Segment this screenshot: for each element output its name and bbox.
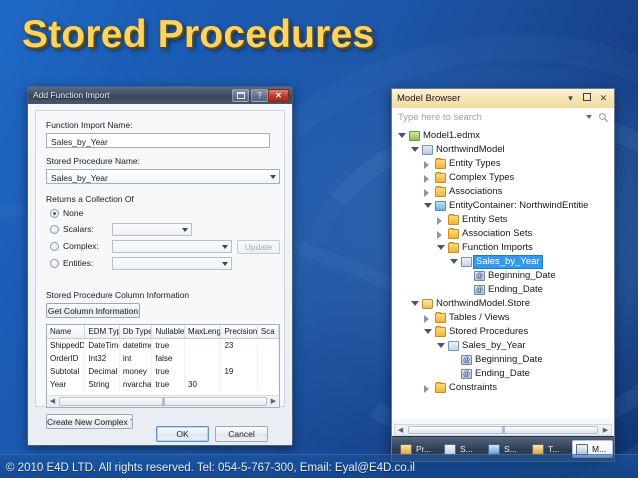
- update-button[interactable]: Update: [237, 240, 280, 254]
- dialog-content-frame: Function Import Name: Sales_by_Year Stor…: [35, 110, 285, 407]
- col-header-nullable[interactable]: Nullable: [152, 325, 185, 339]
- cell-precision: 19: [221, 365, 257, 378]
- dialog-body: Function Import Name: Sales_by_Year Stor…: [28, 104, 292, 445]
- expand-triangle-icon[interactable]: [424, 175, 429, 183]
- tree-item-label: Ending_Date: [488, 283, 543, 297]
- tree-item-label: Stored Procedures: [449, 325, 528, 339]
- dialog-title: Add Function Import: [33, 90, 110, 100]
- radio-scalars-label: Scalars:: [63, 224, 94, 234]
- table-header-row: Name EDM Type Db Type Nullable MaxLength…: [47, 325, 279, 339]
- tree-item-label: Association Sets: [462, 227, 532, 241]
- tree-item-tables-views[interactable]: Tables / Views: [392, 311, 614, 325]
- collapse-triangle-icon[interactable]: [424, 329, 432, 334]
- cell-scale: [257, 378, 278, 391]
- tree-item-entity-types[interactable]: Entity Types: [392, 157, 614, 171]
- help-icon[interactable]: ?: [251, 89, 268, 102]
- expand-triangle-icon[interactable]: [424, 189, 429, 197]
- cell-edm-type: DateTime: [85, 339, 119, 353]
- cell-nullable: true: [152, 365, 185, 378]
- complex-select[interactable]: [112, 240, 232, 253]
- model-browser-search-bar[interactable]: Type here to search: [392, 108, 614, 128]
- store-icon: [422, 299, 433, 309]
- collapse-triangle-icon[interactable]: [398, 133, 406, 138]
- returns-collection-label: Returns a Collection Of: [46, 194, 134, 204]
- tree-item-label: Sales_by_Year: [473, 255, 543, 269]
- restore-icon[interactable]: [232, 89, 249, 102]
- tool-tab-label: Pr...: [416, 444, 431, 454]
- chevron-down-icon[interactable]: ▾: [565, 93, 576, 103]
- tree-item-northwindmodel[interactable]: NorthwindModel: [392, 143, 614, 157]
- collapse-triangle-icon[interactable]: [411, 147, 419, 152]
- scroll-right-icon[interactable]: ▶: [600, 425, 611, 435]
- folder-icon: [435, 159, 446, 169]
- cell-edm-type: String: [85, 378, 119, 391]
- cell-edm-type: Decimal: [85, 365, 119, 378]
- grid-horizontal-scrollbar[interactable]: ◀ ||| ▶: [47, 395, 279, 407]
- cell-nullable: true: [152, 378, 185, 391]
- cell-precision: [221, 352, 257, 365]
- tree-item-label: Associations: [449, 185, 502, 199]
- stored-procedure-name-select[interactable]: Sales_by_Year: [46, 169, 280, 184]
- function-icon: [448, 341, 459, 351]
- slide: Stored Procedures Add Function Import ? …: [0, 0, 638, 478]
- table-row[interactable]: Subtotal Decimal money true 19: [47, 365, 279, 378]
- tree-item-label: Ending_Date: [475, 367, 530, 381]
- model-icon: [422, 145, 433, 155]
- cell-db-type: nvarchar: [119, 378, 152, 391]
- tree-item-label: Entity Types: [449, 157, 501, 171]
- search-icon[interactable]: [598, 112, 609, 123]
- collapse-triangle-icon[interactable]: [411, 301, 419, 306]
- radio-complex-label: Complex:: [63, 241, 99, 251]
- cell-precision: [221, 378, 257, 391]
- cell-edm-type: Int32: [85, 352, 119, 365]
- tree-item-ending-date[interactable]: @Ending_Date: [392, 283, 614, 297]
- chevron-down-icon: [222, 262, 228, 266]
- folder-icon: [435, 173, 446, 183]
- expand-triangle-icon[interactable]: [437, 217, 442, 225]
- scrollbar-grip-icon: |||: [502, 427, 504, 434]
- cell-maxlength: [185, 352, 221, 365]
- entity-container-icon: [435, 201, 446, 211]
- cell-db-type: datetime: [119, 339, 152, 353]
- cell-precision: 23: [221, 339, 257, 353]
- folder-icon: [435, 187, 446, 197]
- cell-maxlength: 30: [185, 378, 221, 391]
- col-header-name[interactable]: Name: [47, 325, 85, 339]
- cell-maxlength: [185, 365, 221, 378]
- parameter-icon: @: [461, 369, 472, 379]
- copyright-text: © 2010 E4D LTD. All rights reserved. Tel…: [6, 462, 415, 474]
- scrollbar-thumb[interactable]: |||: [59, 397, 267, 406]
- tree-item-label: NorthwindModel: [436, 143, 505, 157]
- cell-scale: [257, 365, 278, 378]
- expand-triangle-icon[interactable]: [424, 161, 429, 169]
- tree-item-label: Function Imports: [462, 241, 533, 255]
- col-header-precision[interactable]: Precision: [221, 325, 257, 339]
- tree-item-function-imports[interactable]: Function Imports: [392, 241, 614, 255]
- tree-item-label: Beginning_Date: [475, 353, 543, 367]
- table-row[interactable]: ShippedDate DateTime datetime true 23: [47, 339, 279, 353]
- search-input[interactable]: Type here to search: [398, 112, 482, 123]
- collapse-triangle-icon[interactable]: [437, 343, 445, 348]
- dialog-titlebar[interactable]: Add Function Import ? ✕: [28, 87, 292, 105]
- tool-tab-label: S...: [504, 444, 517, 454]
- page-title: Stored Procedures: [22, 13, 374, 57]
- tree-item-label: Sales_by_Year: [462, 339, 526, 353]
- close-icon[interactable]: ✕: [268, 89, 289, 102]
- tree-item-beginning-date[interactable]: @Beginning_Date: [392, 353, 614, 367]
- maximize-icon[interactable]: [581, 93, 592, 103]
- parameter-icon: @: [461, 355, 472, 365]
- scalars-select[interactable]: [112, 223, 192, 236]
- tree-item-association-sets[interactable]: Association Sets: [392, 227, 614, 241]
- tree-item-label: NorthwindModel.Store: [436, 297, 530, 311]
- col-header-db-type[interactable]: Db Type: [119, 325, 152, 339]
- model-tree[interactable]: Model1.edmxNorthwindModelEntity TypesCom…: [392, 127, 614, 419]
- tree-item-label: Model1.edmx: [423, 129, 480, 143]
- function-import-name-label: Function Import Name:: [46, 120, 132, 130]
- tree-item-associations[interactable]: Associations: [392, 185, 614, 199]
- browser-horizontal-scrollbar[interactable]: ◀ ||| ▶: [394, 424, 612, 436]
- folder-icon: [448, 243, 459, 253]
- model-browser-header: Model Browser ▾ ✕: [392, 89, 614, 109]
- scroll-left-icon[interactable]: ◀: [47, 396, 58, 407]
- radio-none[interactable]: [50, 209, 59, 218]
- tree-item-complex-types[interactable]: Complex Types: [392, 171, 614, 185]
- col-header-edm-type[interactable]: EDM Type: [85, 325, 119, 339]
- model-browser-title: Model Browser: [397, 93, 460, 104]
- create-new-complex-type-button[interactable]: Create New Complex Type: [46, 414, 133, 429]
- tree-item-ending-date[interactable]: @Ending_Date: [392, 367, 614, 381]
- expand-triangle-icon[interactable]: [424, 315, 429, 323]
- cell-scale: [257, 352, 278, 365]
- scrollbar-thumb[interactable]: |||: [408, 426, 598, 434]
- model-browser-panel: Model Browser ▾ ✕ Type here to search Mo…: [391, 88, 615, 462]
- radio-entities[interactable]: [50, 259, 59, 268]
- col-header-maxlength[interactable]: MaxLength: [185, 325, 221, 339]
- cell-db-type: int: [119, 352, 152, 365]
- add-function-import-dialog: Add Function Import ? ✕ Function Import …: [27, 86, 293, 446]
- chevron-down-icon: [182, 228, 188, 232]
- scrollbar-grip-icon: |||: [162, 398, 164, 405]
- cell-nullable: true: [152, 339, 185, 353]
- tree-item-model1-edmx[interactable]: Model1.edmx: [392, 129, 614, 143]
- edmx-file-icon: [409, 131, 420, 141]
- cell-name: ShippedDate: [47, 339, 85, 353]
- cell-name: Year: [47, 378, 85, 391]
- cell-scale: [257, 339, 278, 353]
- collapse-triangle-icon[interactable]: [450, 259, 458, 264]
- column-information-grid[interactable]: Name EDM Type Db Type Nullable MaxLength…: [46, 324, 280, 408]
- expand-triangle-icon[interactable]: [424, 385, 429, 393]
- tree-item-sales-by-year[interactable]: Sales_by_Year: [392, 339, 614, 353]
- folder-icon: [435, 313, 446, 323]
- tree-item-stored-procedures[interactable]: Stored Procedures: [392, 325, 614, 339]
- scroll-left-icon[interactable]: ◀: [395, 425, 406, 435]
- tree-item-label: Tables / Views: [449, 311, 510, 325]
- tool-tab-label: T...: [548, 444, 559, 454]
- search-options-chevron-down-icon[interactable]: [586, 115, 592, 119]
- tree-item-beginning-date[interactable]: @Beginning_Date: [392, 269, 614, 283]
- tree-item-label: Complex Types: [449, 171, 514, 185]
- folder-icon: [448, 215, 459, 225]
- tree-item-northwindmodel-store[interactable]: NorthwindModel.Store: [392, 297, 614, 311]
- function-icon: [461, 257, 472, 267]
- tool-tab-label: M...: [592, 444, 606, 454]
- chevron-down-icon: [222, 245, 228, 249]
- get-column-information-button[interactable]: Get Column Information: [46, 303, 140, 318]
- tool-tab-label: S...: [460, 444, 473, 454]
- entities-select[interactable]: [112, 257, 232, 270]
- close-icon[interactable]: ✕: [598, 93, 609, 103]
- collapse-triangle-icon[interactable]: [437, 245, 445, 250]
- radio-none-label: None: [63, 208, 83, 218]
- collapse-triangle-icon[interactable]: [424, 203, 432, 208]
- folder-icon: [435, 327, 446, 337]
- tree-item-label: Beginning_Date: [488, 269, 556, 283]
- cancel-button[interactable]: Cancel: [215, 426, 268, 442]
- tree-item-sales-by-year[interactable]: Sales_by_Year: [392, 255, 614, 269]
- radio-scalars[interactable]: [50, 225, 59, 234]
- expand-triangle-icon[interactable]: [437, 231, 442, 239]
- stored-procedure-name-label: Stored Procedure Name:: [46, 156, 140, 166]
- tree-item-constraints[interactable]: Constraints: [392, 381, 614, 395]
- cell-name: OrderID: [47, 352, 85, 365]
- radio-complex[interactable]: [50, 242, 59, 251]
- cell-nullable: false: [152, 352, 185, 365]
- column-information-table: Name EDM Type Db Type Nullable MaxLength…: [47, 325, 279, 391]
- tree-item-label: EntityContainer: NorthwindEntitie: [449, 199, 588, 213]
- cell-maxlength: [185, 339, 221, 353]
- parameter-icon: @: [474, 271, 485, 281]
- tree-item-label: Entity Sets: [462, 213, 507, 227]
- stored-procedure-name-value: Sales_by_Year: [51, 173, 108, 183]
- col-header-scale[interactable]: Sca: [257, 325, 278, 339]
- tree-item-label: Constraints: [449, 381, 497, 395]
- chevron-down-icon: [270, 175, 276, 179]
- table-row[interactable]: Year String nvarchar true 30: [47, 378, 279, 391]
- cell-db-type: money: [119, 365, 152, 378]
- parameter-icon: @: [474, 285, 485, 295]
- tree-item-entity-sets[interactable]: Entity Sets: [392, 213, 614, 227]
- function-import-name-input[interactable]: Sales_by_Year: [46, 133, 270, 148]
- folder-icon: [448, 229, 459, 239]
- folder-icon: [435, 383, 446, 393]
- tree-item-entitycontainer-northwindentitie[interactable]: EntityContainer: NorthwindEntitie: [392, 199, 614, 213]
- cell-name: Subtotal: [47, 365, 85, 378]
- table-row[interactable]: OrderID Int32 int false: [47, 352, 279, 365]
- column-information-label: Stored Procedure Column Information: [46, 290, 189, 300]
- scroll-right-icon[interactable]: ▶: [268, 396, 279, 407]
- radio-entities-label: Entities:: [63, 258, 93, 268]
- ok-button[interactable]: OK: [156, 426, 209, 442]
